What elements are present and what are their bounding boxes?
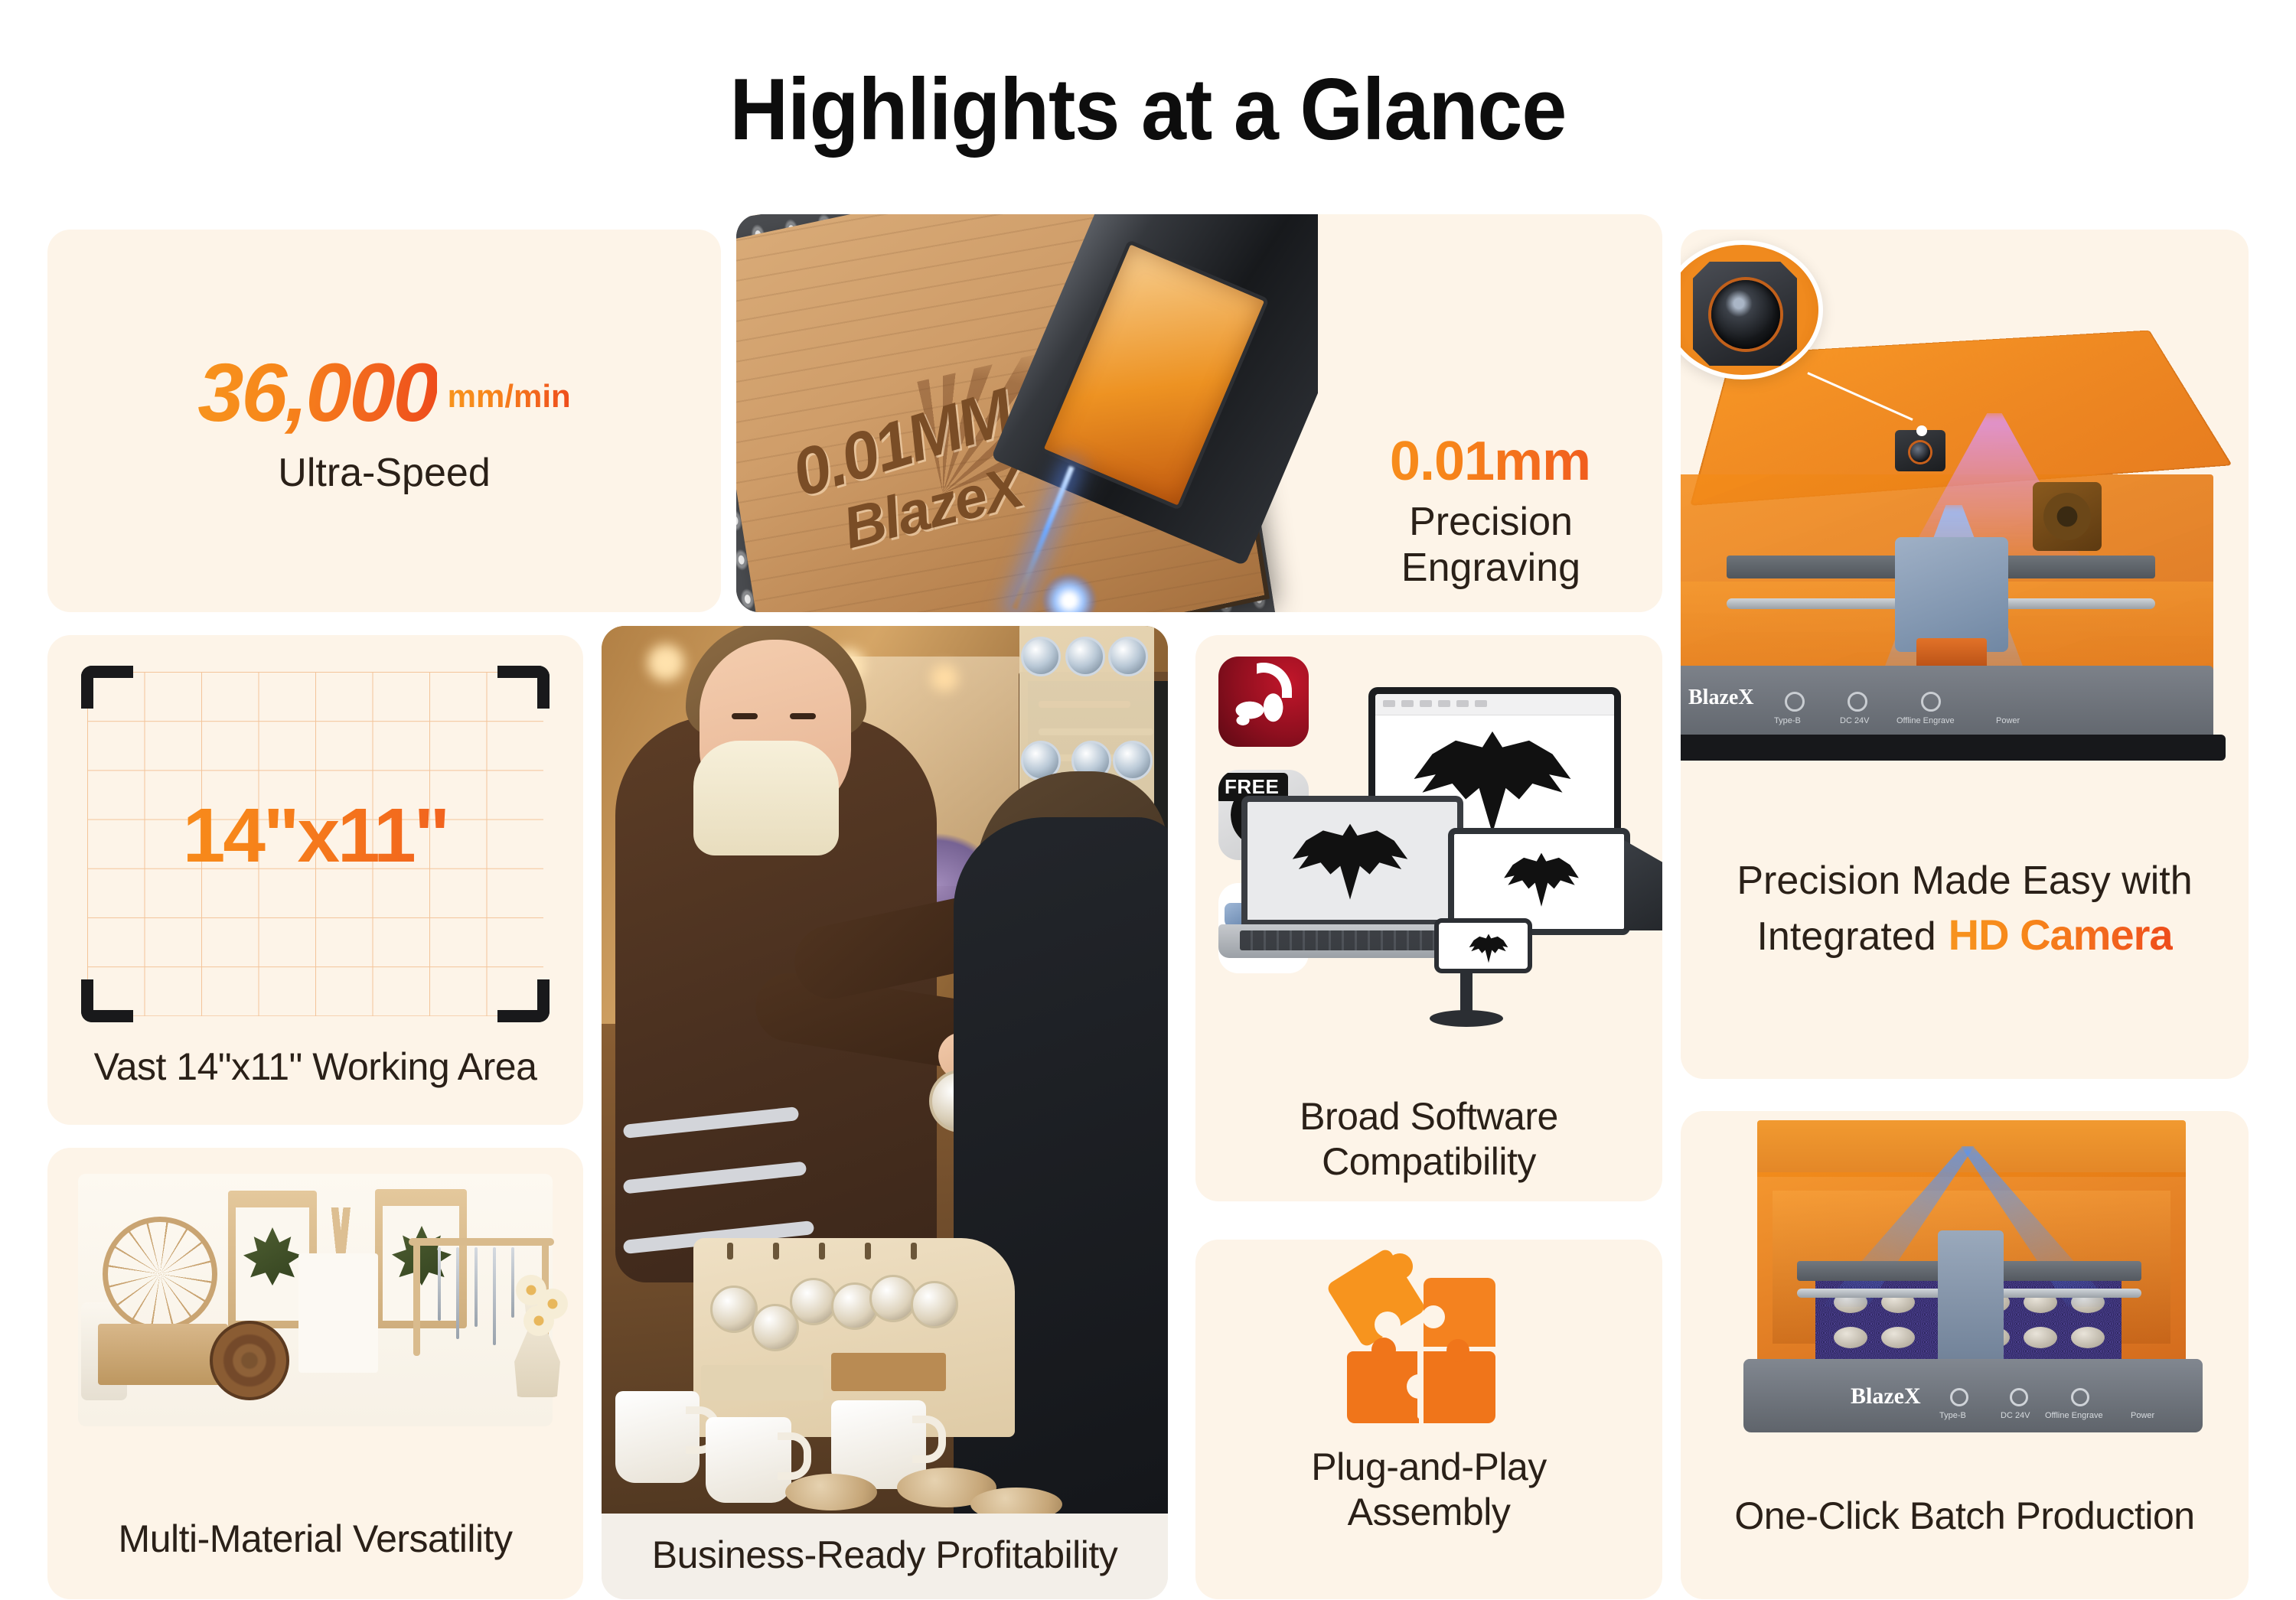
laser-head [1938, 1230, 2004, 1376]
laser-engraver-with-enclosure: BlazeX Type-B DC 24V Offline Engrave Pow… [1681, 253, 2249, 819]
engraved-wood-slice [210, 1321, 289, 1400]
port-label-power: Power [1996, 716, 2020, 725]
wooden-ferris-wheel [103, 1217, 217, 1331]
card-software-compatibility: FREE GRBL LASER [1195, 635, 1662, 1201]
brand-logo: BlazeX [1851, 1383, 1921, 1409]
exhaust-fan [2033, 482, 2102, 551]
camera-lens-icon [1711, 280, 1780, 349]
card-hd-camera: BlazeX Type-B DC 24V Offline Engrave Pow… [1681, 230, 2249, 1079]
engraved-mug [706, 1417, 791, 1503]
market-photo [602, 626, 1168, 1514]
speed-label: Ultra-Speed [47, 450, 721, 496]
puzzle-pieces-icon [1347, 1266, 1500, 1419]
card-working-area: 14"x11" Vast 14"x11" Working Area [47, 635, 583, 1125]
machine-base [1743, 1359, 2203, 1432]
port-label-offline: Offline Engrave [2045, 1411, 2103, 1420]
card-ultra-speed: 36,000mm/min Ultra-Speed [47, 230, 721, 612]
precision-value: 0.01mm [1329, 430, 1651, 493]
camera-module [1895, 430, 1945, 471]
port-label-dc: DC 24V [1840, 716, 1870, 725]
card-multi-material: Multi-Material Versatility [47, 1148, 583, 1599]
eagle-artwork [1502, 849, 1581, 909]
corner-bracket-top-left [81, 666, 133, 709]
plug-caption-line2: Assembly [1348, 1491, 1511, 1533]
jewelry-rack [409, 1238, 554, 1246]
highlights-infographic: Highlights at a Glance 36,000mm/min Ultr… [0, 0, 2296, 1600]
laptop [1241, 796, 1463, 926]
card-business-ready: Business-Ready Profitability [602, 626, 1168, 1599]
card-batch-production: BlazeX Type-B DC 24V Offline Engrave Pow… [1681, 1111, 2249, 1599]
engraved-mug [615, 1391, 700, 1483]
multi-material-caption: Multi-Material Versatility [47, 1517, 583, 1562]
working-area-caption: Vast 14"x11" Working Area [47, 1044, 583, 1090]
smartphone [1434, 918, 1532, 973]
camera-caption: Precision Made Easy with IntegratedHD Ca… [1681, 857, 2249, 961]
camera-caption-accent: HD Camera [1949, 909, 2173, 960]
plug-caption-line1: Plug-and-Play [1311, 1445, 1547, 1488]
port-label-offline: Offline Engrave [1896, 716, 1955, 725]
working-area-dimension: 14"x11" [47, 792, 583, 880]
eagle-artwork [1468, 932, 1509, 964]
card-precision-engraving: 0.01MM BlazeX 0.01mm Precision Engraving [736, 214, 1662, 612]
software-caption-line1: Broad Software [1300, 1095, 1558, 1138]
corner-bracket-bottom-left [81, 979, 133, 1022]
eagle-artwork [1289, 819, 1411, 903]
port-label-power: Power [2131, 1411, 2154, 1420]
card-plug-and-play: Plug-and-Play Assembly [1195, 1240, 1662, 1599]
port-label-type-b: Type-B [1939, 1411, 1966, 1420]
laser-module [1895, 537, 2008, 652]
camera-caption-prefix: Integrated [1756, 914, 1936, 959]
camera-callout [1681, 240, 1823, 380]
laser-engraver-batch: BlazeX Type-B DC 24V Offline Engrave Pow… [1708, 1116, 2229, 1475]
plug-and-play-caption: Plug-and-Play Assembly [1195, 1445, 1662, 1535]
lightburn-icon [1218, 657, 1309, 747]
speed-value: 36,000 [197, 344, 436, 440]
port-label-type-b: Type-B [1774, 716, 1801, 725]
speed-unit: mm/min [448, 378, 571, 415]
corner-bracket-bottom-right [497, 979, 550, 1022]
software-caption-line2: Compatibility [1322, 1140, 1536, 1183]
page-title: Highlights at a Glance [80, 60, 2216, 160]
software-caption: Broad Software Compatibility [1195, 1094, 1662, 1185]
engraving-photo: 0.01MM BlazeX [736, 214, 1318, 612]
batch-caption: One-Click Batch Production [1681, 1494, 2249, 1539]
engraved-crafts-photo [78, 1174, 553, 1426]
corner-bracket-top-right [497, 666, 550, 709]
camera-caption-line1: Precision Made Easy with [1681, 857, 2249, 904]
paper-cut-art [298, 1253, 378, 1373]
port-label-dc: DC 24V [2001, 1411, 2030, 1420]
precision-label: Precision Engraving [1319, 499, 1662, 591]
business-caption: Business-Ready Profitability [602, 1533, 1168, 1578]
brand-logo: BlazeX [1688, 686, 1754, 710]
speed-value-row: 36,000mm/min [47, 344, 721, 440]
